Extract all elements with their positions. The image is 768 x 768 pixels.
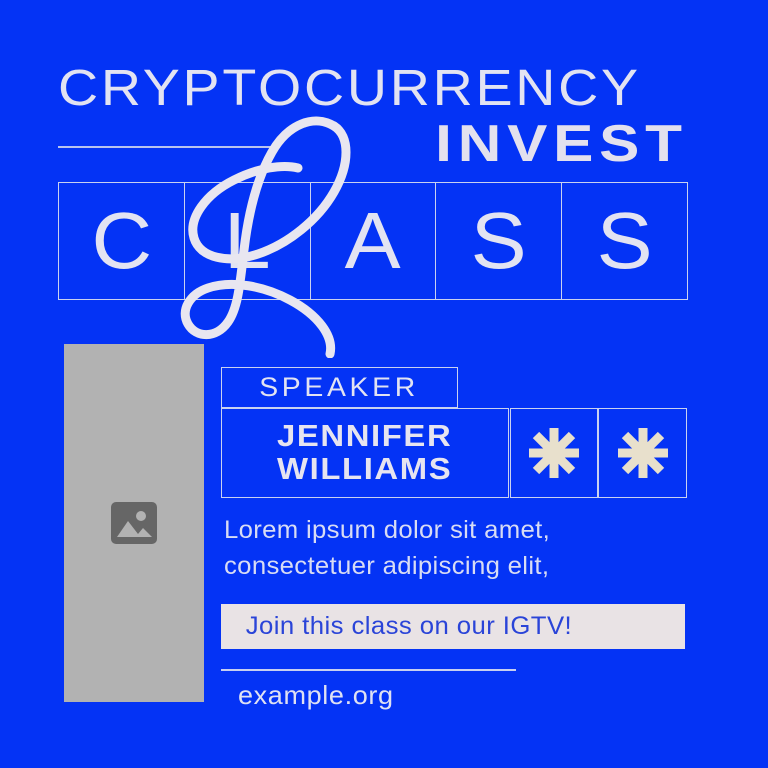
header-divider-line [58, 146, 276, 148]
class-letter: S [597, 195, 653, 287]
class-letter-grid: C L A S S [58, 182, 688, 300]
asterisk-icon [526, 425, 582, 481]
class-letter: A [345, 195, 401, 287]
cta-banner[interactable]: Join this class on our IGTV! [221, 604, 685, 649]
page-title-secondary: INVEST [435, 118, 688, 170]
class-letter-cell: S [435, 182, 561, 300]
asterisk-icon [615, 425, 671, 481]
class-letter: L [224, 195, 271, 287]
class-letter-cell: L [184, 182, 310, 300]
cta-label: Join this class on our IGTV! [221, 612, 572, 641]
class-letter-cell: S [561, 182, 688, 300]
footer-website-url[interactable]: example.org [238, 680, 394, 711]
class-letter: C [91, 195, 152, 287]
body-line-2: consectetuer adipiscing elit, [224, 549, 708, 585]
speaker-name-line1: JENNIFER [277, 420, 452, 453]
class-letter-cell: A [310, 182, 436, 300]
image-placeholder-icon [111, 502, 157, 544]
asterisk-box-1 [510, 408, 598, 498]
asterisk-box-2 [598, 408, 687, 498]
class-letter: S [471, 195, 527, 287]
footer-divider-line [221, 669, 516, 671]
class-letter-cell: C [58, 182, 184, 300]
page-title-primary: CRYPTOCURRENCY [58, 62, 756, 113]
speaker-name-line2: WILLIAMS [277, 453, 452, 486]
speaker-photo-placeholder [64, 344, 204, 702]
speaker-label: SPEAKER [260, 372, 420, 403]
speaker-label-box: SPEAKER [221, 367, 458, 408]
body-description: Lorem ipsum dolor sit amet, consectetuer… [224, 513, 694, 584]
poster-canvas: CRYPTOCURRENCY INVEST C L A S S SPEAKER … [0, 0, 768, 768]
body-line-1: Lorem ipsum dolor sit amet, [224, 513, 708, 549]
speaker-name-box: JENNIFER WILLIAMS [221, 408, 509, 498]
